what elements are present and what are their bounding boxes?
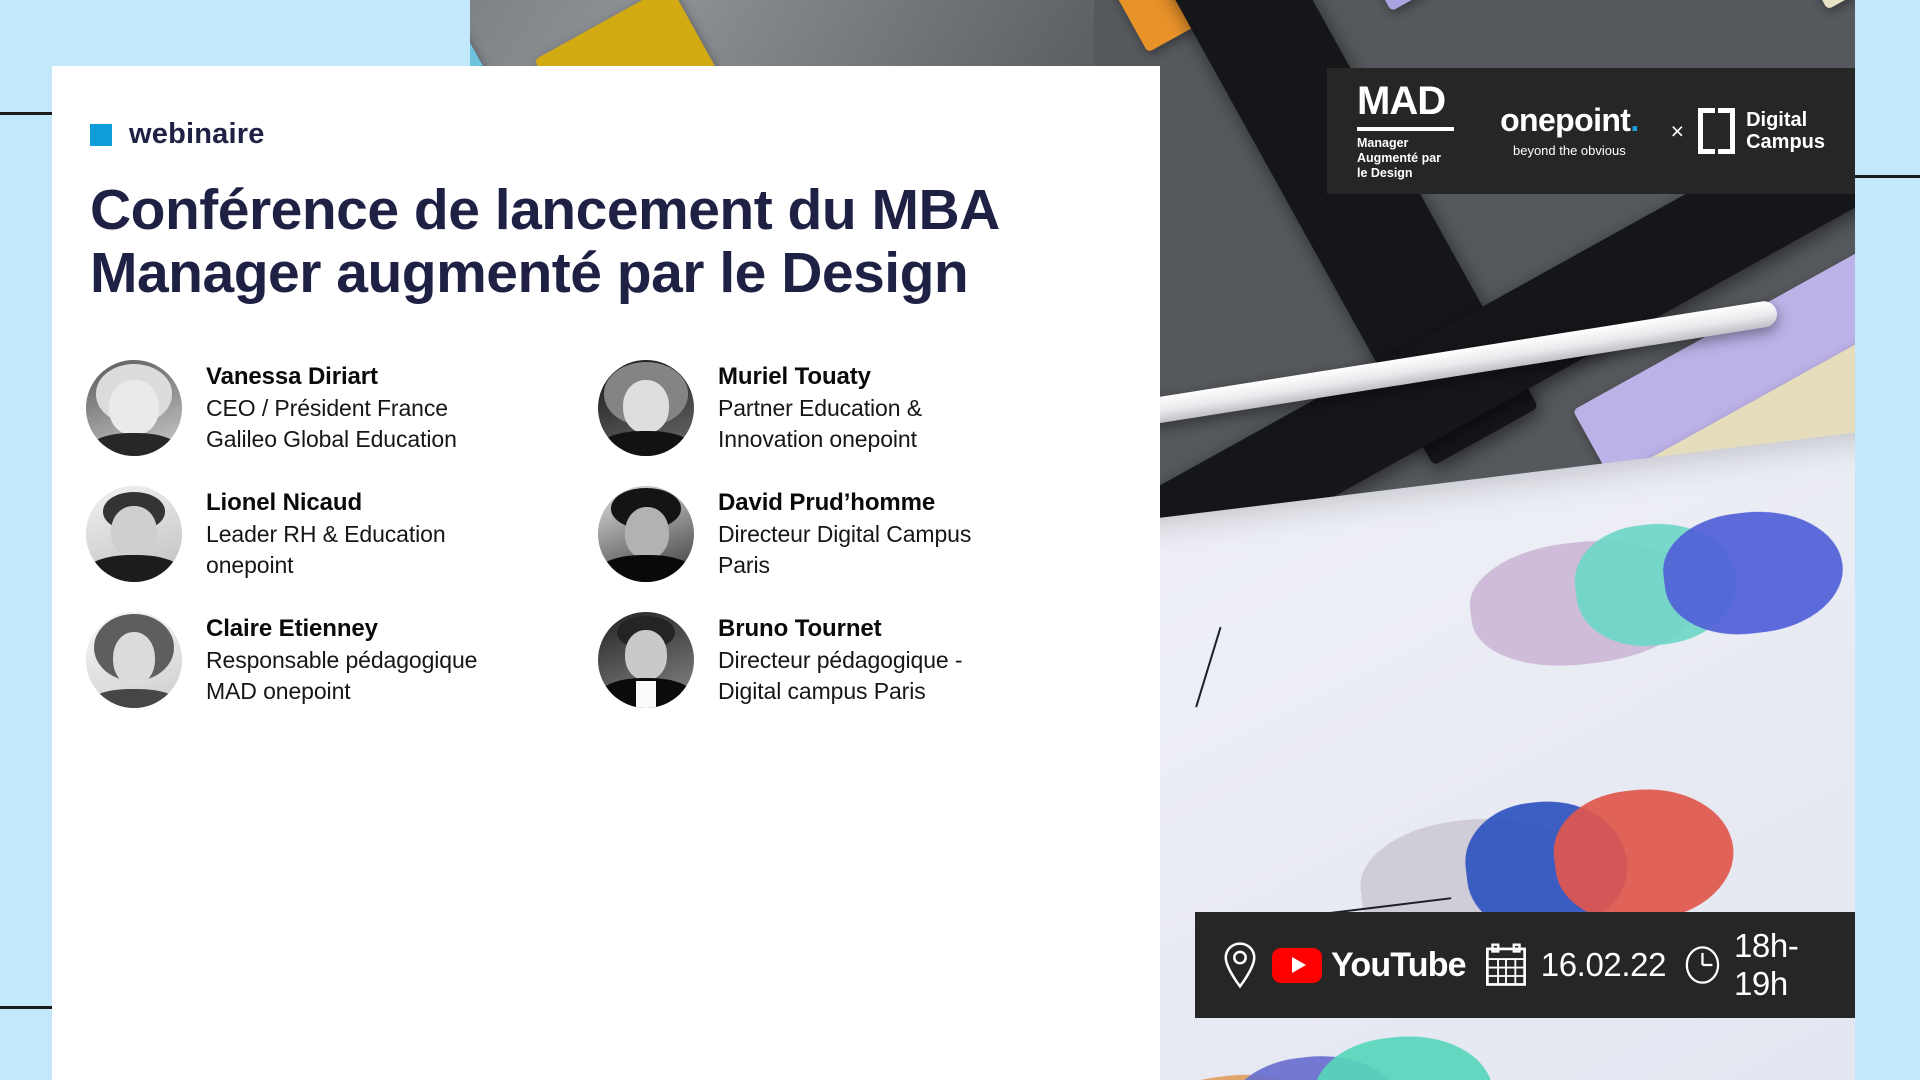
avatar-body <box>90 689 178 708</box>
frame-rule-bottom-left <box>0 1006 52 1009</box>
avatar-face <box>109 380 159 436</box>
avatar <box>598 486 694 582</box>
event-time-value: 18h-19h <box>1734 927 1829 1003</box>
mad-logo: MAD Manager Augmenté par le Design <box>1357 81 1478 182</box>
onepoint-tagline: beyond the obvious <box>1500 143 1639 158</box>
avatar <box>86 486 182 582</box>
digital-campus-logo: Digital Campus <box>1698 108 1825 154</box>
avatar-body <box>86 555 182 582</box>
photo-sketch-stroke <box>1195 627 1222 708</box>
mad-tagline: Manager Augmenté par le Design <box>1357 136 1454 182</box>
map-pin-icon <box>1221 941 1259 989</box>
avatar-body <box>598 555 694 582</box>
cross-separator-icon: × <box>1657 118 1698 145</box>
page-title: Conférence de lancement du MBA Manager a… <box>90 179 1100 304</box>
avatar-body <box>600 431 692 456</box>
youtube-wordmark: YouTube <box>1331 946 1466 985</box>
speaker-role: Directeur Digital Campus Paris <box>718 519 1028 580</box>
photo-sketch-blob <box>1308 1026 1500 1080</box>
speaker-card: Muriel Touaty Partner Education & Innova… <box>598 360 1088 456</box>
digital-campus-brackets-icon <box>1698 108 1735 154</box>
speaker-role: Leader RH & Education onepoint <box>206 519 516 580</box>
avatar-face <box>625 630 667 680</box>
youtube-icon[interactable]: YouTube <box>1272 946 1466 985</box>
content-card: webinaire Conférence de lancement du MBA… <box>52 66 1160 1080</box>
speaker-role: Partner Education & Innovation onepoint <box>718 393 1028 454</box>
speaker-role: Directeur pédagogique - Digital campus P… <box>718 645 1028 706</box>
avatar <box>86 612 182 708</box>
speaker-card: Lionel Nicaud Leader RH & Education onep… <box>86 486 576 582</box>
eyebrow-label: webinaire <box>129 118 265 151</box>
photo-color-chip <box>1307 0 1602 12</box>
digital-campus-line1: Digital <box>1746 109 1825 131</box>
speaker-name: Bruno Tournet <box>718 614 1028 645</box>
speaker-name: David Prud’homme <box>718 488 1028 519</box>
speaker-name: Vanessa Diriart <box>206 362 516 393</box>
onepoint-wordmark: onepoint. <box>1500 104 1639 136</box>
frame-rule-left <box>0 112 52 115</box>
speaker-card: Bruno Tournet Directeur pédagogique - Di… <box>598 612 1088 708</box>
frame-rule-right <box>1855 175 1920 178</box>
avatar-face <box>111 506 157 558</box>
speaker-name: Lionel Nicaud <box>206 488 516 519</box>
avatar-face <box>623 380 669 434</box>
youtube-play-badge[interactable] <box>1272 948 1322 983</box>
photo-color-chip <box>1762 0 1855 10</box>
calendar-icon <box>1484 942 1528 988</box>
event-time: 18h-19h <box>1684 927 1829 1003</box>
avatar <box>598 612 694 708</box>
avatar <box>598 360 694 456</box>
speaker-grid: Vanessa Diriart CEO / Président France G… <box>86 360 1160 708</box>
speaker-card: David Prud’homme Directeur Digital Campu… <box>598 486 1088 582</box>
speaker-name: Muriel Touaty <box>718 362 1028 393</box>
onepoint-dot-icon: . <box>1630 102 1638 138</box>
mad-underline-rule <box>1357 127 1454 131</box>
digital-campus-wordmark: Digital Campus <box>1746 109 1825 153</box>
eyebrow: webinaire <box>90 118 1160 151</box>
avatar-face <box>113 632 155 686</box>
play-triangle-icon <box>1292 957 1306 973</box>
avatar <box>86 360 182 456</box>
avatar-body <box>90 433 178 456</box>
digital-campus-line2: Campus <box>1746 131 1825 153</box>
partner-logo-bar: MAD Manager Augmenté par le Design onepo… <box>1327 68 1855 194</box>
speaker-role: Responsable pédagogique MAD onepoint <box>206 645 516 706</box>
speaker-role: CEO / Président France Galileo Global Ed… <box>206 393 516 454</box>
speaker-name: Claire Etienney <box>206 614 516 645</box>
event-info-bar: YouTube 16.02.22 <box>1195 912 1855 1018</box>
event-date-value: 16.02.22 <box>1541 946 1666 984</box>
speaker-card: Vanessa Diriart CEO / Président France G… <box>86 360 576 456</box>
square-marker-icon <box>90 124 112 146</box>
clock-icon <box>1684 941 1721 989</box>
speaker-card: Claire Etienney Responsable pédagogique … <box>86 612 576 708</box>
poster-canvas: webinaire Conférence de lancement du MBA… <box>0 0 1920 1080</box>
event-location: YouTube <box>1221 941 1466 989</box>
onepoint-logo: onepoint. beyond the obvious <box>1478 104 1657 158</box>
event-date: 16.02.22 <box>1484 942 1666 988</box>
avatar-face <box>625 507 669 559</box>
mad-wordmark: MAD <box>1357 81 1454 121</box>
avatar-shirt <box>636 681 655 708</box>
